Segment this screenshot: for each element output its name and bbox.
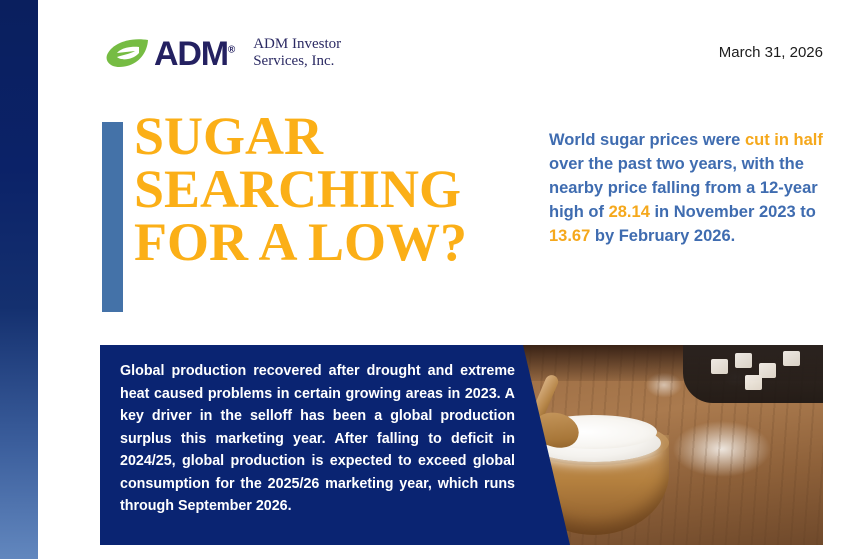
pan-sugar-cube [735, 353, 752, 368]
pan-sugar-cube [745, 375, 762, 390]
page-title: SUGAR SEARCHING FOR A LOW? [134, 110, 554, 269]
lead-text-3: in November 2023 to [650, 203, 816, 221]
feature-body-text: Global production recovered after drough… [120, 360, 515, 518]
company-name: ADM Investor Services, Inc. [253, 36, 341, 71]
lead-highlight-cut-in-half: cut in half [745, 131, 823, 149]
baking-pan [683, 345, 823, 403]
registered-trademark-icon: ® [228, 45, 235, 56]
adm-wordmark-text: ADM [154, 35, 228, 73]
hero-lead-paragraph: World sugar prices were cut in half over… [549, 128, 827, 248]
lead-highlight-high-price: 28.14 [609, 203, 650, 221]
feature-section: Global production recovered after drough… [100, 345, 823, 545]
feature-navy-panel: Global production recovered after drough… [100, 345, 580, 545]
report-date: March 31, 2026 [719, 44, 823, 61]
adm-logo: ADM® ADM Investor Services, Inc. [106, 36, 341, 71]
pan-sugar-cube [783, 351, 800, 366]
hero-accent-bar [102, 122, 123, 312]
page-header: ADM® ADM Investor Services, Inc. March 3… [38, 0, 850, 100]
lead-text-4: by February 2026. [590, 227, 735, 245]
left-gradient-rail [0, 0, 38, 559]
adm-wordmark: ADM® [154, 37, 235, 71]
hero-section: SUGAR SEARCHING FOR A LOW? World sugar p… [102, 120, 827, 320]
lead-highlight-low-price: 13.67 [549, 227, 590, 245]
pan-sugar-cube [711, 359, 728, 374]
adm-leaf-icon [106, 38, 150, 68]
lead-text-1: World sugar prices were [549, 131, 745, 149]
